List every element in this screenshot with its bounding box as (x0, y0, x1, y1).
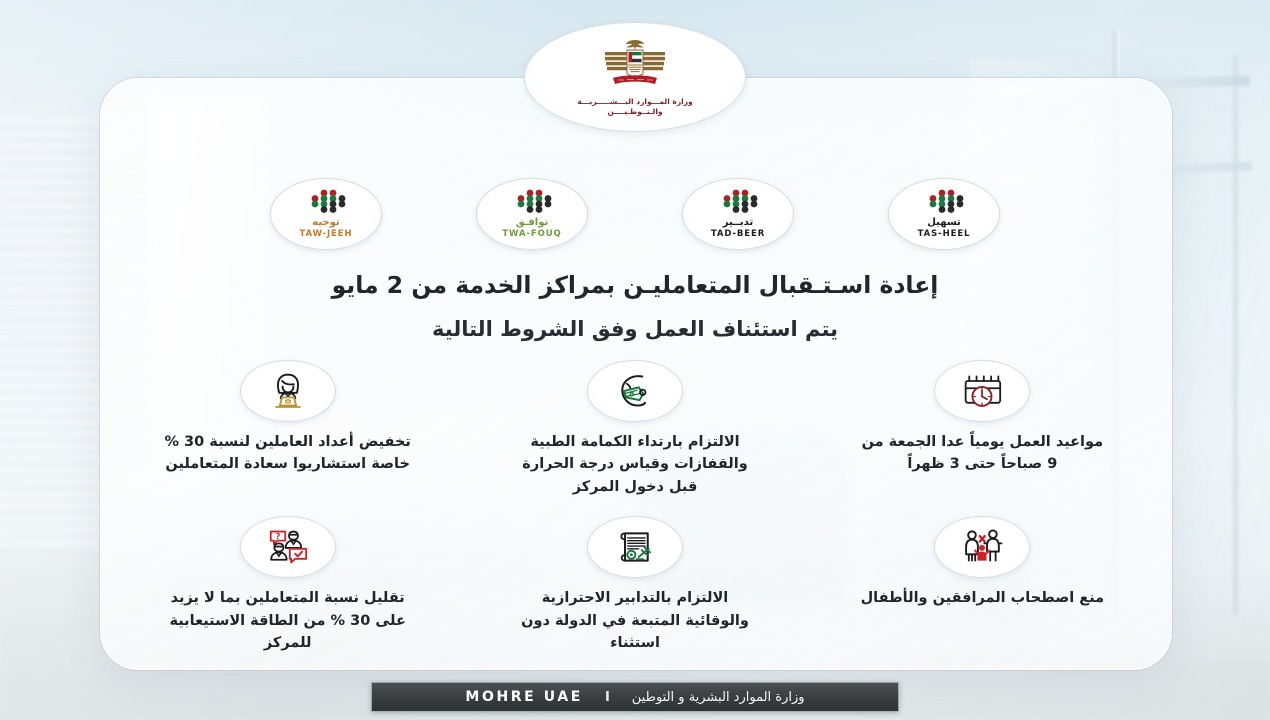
condition-icon-wrapper (934, 360, 1030, 422)
condition-text: الالتزام بارتداء الكمامة الطبية والقفازا… (510, 431, 760, 498)
condition-icon-wrapper (240, 360, 336, 422)
emblem-caption-line-1: وزارة المـــوارد البـــشـــــريـــة (577, 97, 692, 106)
condition-text: منع اصطحاب المرافقين والأطفال (861, 587, 1105, 609)
headline-block: إعادة اسـتـقبال المتعامليـن بمراكز الخدم… (0, 268, 1270, 346)
condition-item-mask-gloves-temperature: الالتزام بارتداء الكمامة الطبية والقفازا… (465, 360, 804, 498)
headline-secondary: يتم استئناف العمل وفق الشروط التالية (0, 314, 1270, 346)
svg-text:?: ? (275, 532, 280, 542)
condition-text: الالتزام بالتدابير الاحترازية والوقائية … (510, 587, 760, 654)
condition-text: تخفيض أعداد العاملين لنسبة 30 % خاصة است… (163, 431, 413, 476)
ministry-emblem-badge: وزارة المـــوارد البـــشـــــريـــة والـ… (524, 22, 746, 132)
uae-federal-emblem-icon (597, 38, 673, 94)
service-logo-arabic-label: تسهيل (927, 218, 961, 228)
footer-latin-label: MOHRE UAE (465, 689, 583, 705)
condition-text: تقليل نسبة المتعاملين بما لا يزيد على 30… (163, 587, 413, 654)
service-logo-arabic-label: توافـق (516, 218, 548, 228)
emblem-caption-line-2: والـتــوطـيــــن (577, 107, 692, 116)
condition-item-working-hours: مواعيد العمل يومياً عدا الجمعة من 9 صباح… (813, 360, 1152, 498)
condition-icon-wrapper: ? (240, 516, 336, 578)
condition-item-precautionary-measures: الالتزام بالتدابير الاحترازية والوقائية … (465, 516, 804, 654)
service-logo-latin-label: TAS-HEEL (918, 229, 971, 239)
service-logo-tadbeer[interactable]: تدبــير TAD-BEER (682, 178, 794, 250)
condition-icon-wrapper (934, 516, 1030, 578)
dot-matrix-logo-icon (919, 189, 969, 217)
footer-arabic-label: وزارة الموارد البشرية و التوطين (632, 690, 805, 705)
service-logo-latin-label: TWA-FOUQ (502, 229, 561, 239)
footer-brand-bar: MOHRE UAE I وزارة الموارد البشرية و التو… (371, 682, 899, 712)
condition-icon-wrapper (587, 516, 683, 578)
calendar-clock-icon (960, 371, 1004, 411)
condition-item-customer-capacity: ? تقليل نسبة المتعاملين بما لا يزيد على … (118, 516, 457, 654)
service-logo-arabic-label: توجيه (312, 218, 339, 228)
regulation-scroll-icon (613, 527, 657, 567)
no-companions-children-icon (960, 527, 1004, 567)
service-brand-logos: توجيه TAW-JEEH توافـق TWA-FOUQ تدبــير T… (0, 178, 1270, 250)
footer-separator: I (605, 690, 610, 705)
service-logo-latin-label: TAW-JEEH (300, 229, 353, 239)
service-logo-tawjeeh[interactable]: توجيه TAW-JEEH (270, 178, 382, 250)
woman-at-laptop-icon (266, 371, 310, 411)
conditions-grid: مواعيد العمل يومياً عدا الجمعة من 9 صباح… (118, 360, 1152, 655)
dot-matrix-logo-icon (713, 189, 763, 217)
service-logo-tasheel[interactable]: تسهيل TAS-HEEL (888, 178, 1000, 250)
emblem-caption: وزارة المـــوارد البـــشـــــريـــة والـ… (577, 97, 692, 116)
service-logo-arabic-label: تدبــير (723, 218, 753, 228)
dot-matrix-logo-icon (507, 189, 557, 217)
service-logo-twafouq[interactable]: توافـق TWA-FOUQ (476, 178, 588, 250)
customers-capacity-icon: ? (266, 527, 310, 567)
condition-item-staff-reduction: تخفيض أعداد العاملين لنسبة 30 % خاصة است… (118, 360, 457, 498)
condition-item-no-companions: منع اصطحاب المرافقين والأطفال (813, 516, 1152, 654)
condition-text: مواعيد العمل يومياً عدا الجمعة من 9 صباح… (857, 431, 1107, 476)
service-logo-latin-label: TAD-BEER (711, 229, 765, 239)
dot-matrix-logo-icon (301, 189, 351, 217)
condition-icon-wrapper (587, 360, 683, 422)
face-mask-icon (613, 371, 657, 411)
headline-primary: إعادة اسـتـقبال المتعامليـن بمراكز الخدم… (0, 268, 1270, 303)
